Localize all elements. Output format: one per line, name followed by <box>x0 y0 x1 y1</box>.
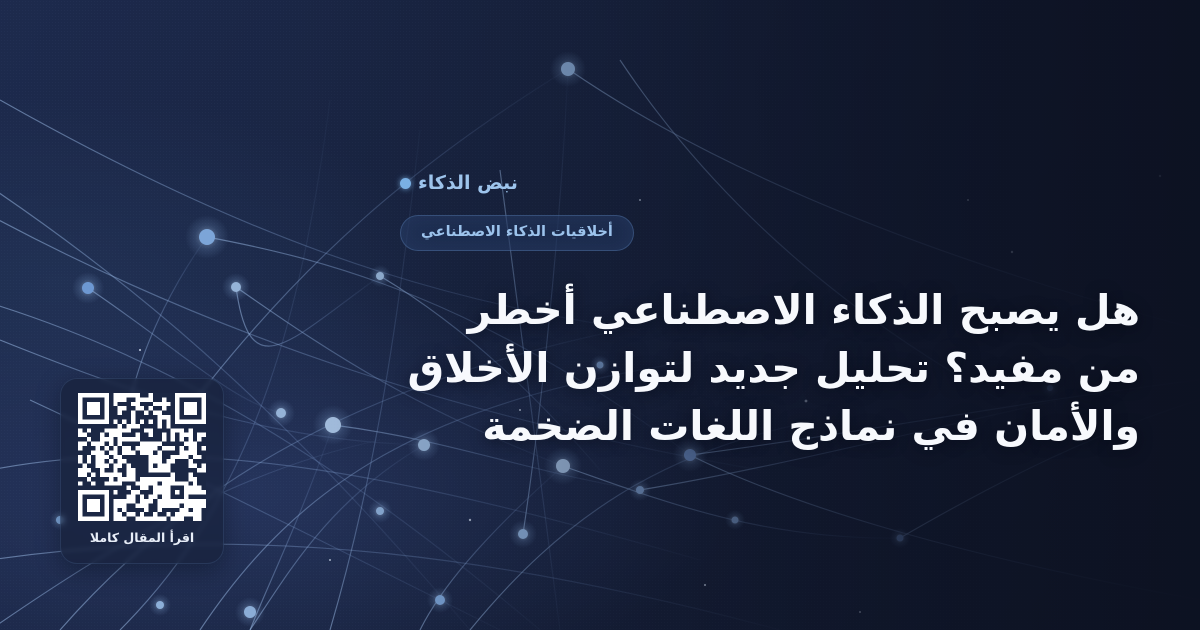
brand-name: نبض الذكاء <box>418 174 518 193</box>
dot-sparkle-icon <box>400 178 411 189</box>
content-column: نبض الذكاء أخلاقيات الذكاء الاصطناعي هل … <box>400 0 1200 630</box>
brand: نبض الذكاء <box>400 174 518 193</box>
qr-caption: اقرأ المقال كاملا <box>90 532 194 545</box>
qr-card[interactable]: اقرأ المقال كاملا <box>60 378 224 564</box>
category-badge[interactable]: أخلاقيات الذكاء الاصطناعي <box>400 215 634 251</box>
page-title: هل يصبح الذكاء الاصطناعي أخطر من مفيد؟ ت… <box>400 281 1140 456</box>
qr-code-icon <box>78 393 206 521</box>
share-card: نبض الذكاء أخلاقيات الذكاء الاصطناعي هل … <box>0 0 1200 630</box>
